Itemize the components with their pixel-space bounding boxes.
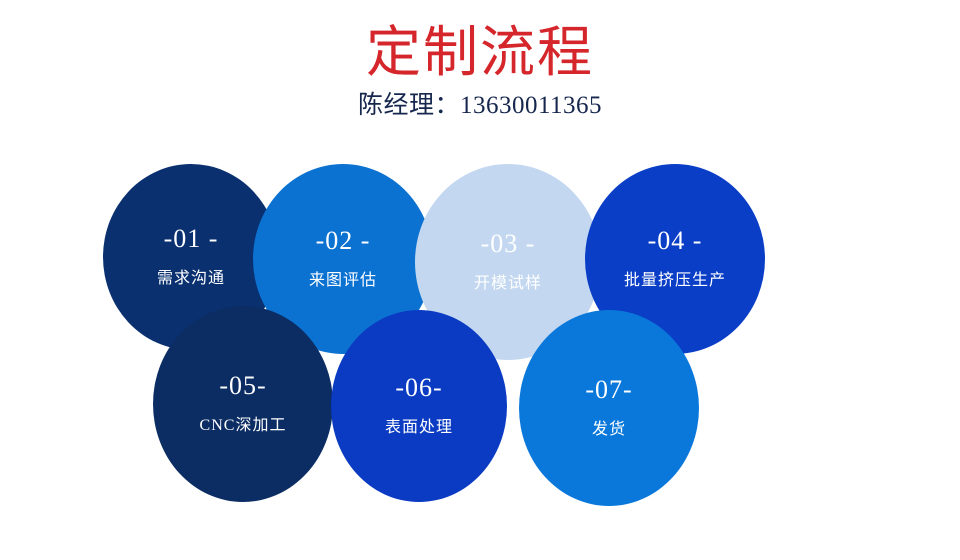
step-number-07: -07- xyxy=(585,375,632,405)
step-number-04: -04 - xyxy=(648,226,703,256)
step-label-03: 开模试样 xyxy=(474,273,542,295)
step-label-02: 来图评估 xyxy=(309,270,377,292)
step-label-05: CNC深加工 xyxy=(200,415,287,437)
process-step-circle-07[interactable]: -07- 发货 xyxy=(519,310,699,506)
process-step-circle-05[interactable]: -05- CNC深加工 xyxy=(153,306,333,502)
step-label-01: 需求沟通 xyxy=(157,268,225,290)
step-number-01: -01 - xyxy=(164,224,219,254)
step-label-06: 表面处理 xyxy=(385,417,453,439)
step-number-03: -03 - xyxy=(481,229,536,259)
slide-canvas: 定制流程 陈经理：13630011365 -01 - 需求沟通 -02 - 来图… xyxy=(0,0,960,560)
process-step-circle-06[interactable]: -06- 表面处理 xyxy=(331,310,507,502)
step-number-05: -05- xyxy=(219,371,266,401)
step-label-04: 批量挤压生产 xyxy=(624,270,726,292)
step-number-06: -06- xyxy=(395,373,442,403)
step-label-07: 发货 xyxy=(592,419,626,441)
step-number-02: -02 - xyxy=(316,226,371,256)
process-flow-diagram: -01 - 需求沟通 -02 - 来图评估 -03 - 开模试样 -04 - 批… xyxy=(0,0,960,560)
